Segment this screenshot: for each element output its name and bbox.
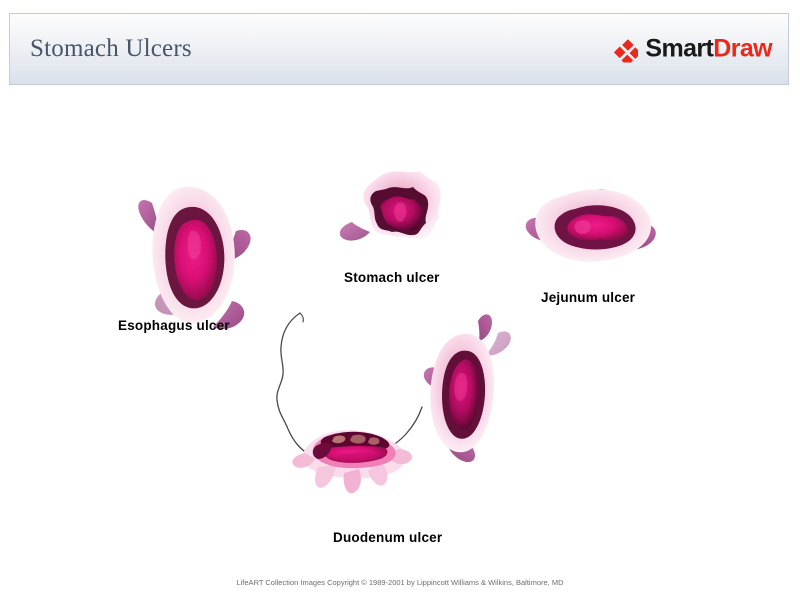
label-esophagus-ulcer: Esophagus ulcer bbox=[118, 318, 230, 333]
logo-text-draw: Draw bbox=[713, 35, 772, 63]
esophagus-ulcer-illustration bbox=[138, 187, 250, 329]
label-duodenum-ulcer: Duodenum ulcer bbox=[333, 530, 442, 545]
smartdraw-logo-text: SmartDraw bbox=[645, 35, 772, 64]
jejunum-ulcer-illustration bbox=[526, 189, 656, 261]
logo-text-smart: Smart bbox=[645, 35, 713, 63]
label-stomach-ulcer: Stomach ulcer bbox=[344, 270, 440, 285]
stomach-ulcer-illustration bbox=[340, 171, 441, 241]
duodenum-upper-ulcer-illustration bbox=[424, 314, 511, 462]
smartdraw-logo[interactable]: SmartDraw bbox=[612, 35, 772, 64]
label-jejunum-ulcer: Jejunum ulcer bbox=[541, 290, 635, 305]
page-title: Stomach Ulcers bbox=[30, 35, 192, 63]
red-diamond-cluster-icon bbox=[612, 36, 638, 62]
copyright-credit: LifeART Collection Images Copyright © 19… bbox=[0, 578, 800, 587]
duodenum-ulcer-illustration bbox=[292, 430, 412, 493]
header-bar: Stomach Ulcers SmartDraw bbox=[9, 13, 789, 85]
